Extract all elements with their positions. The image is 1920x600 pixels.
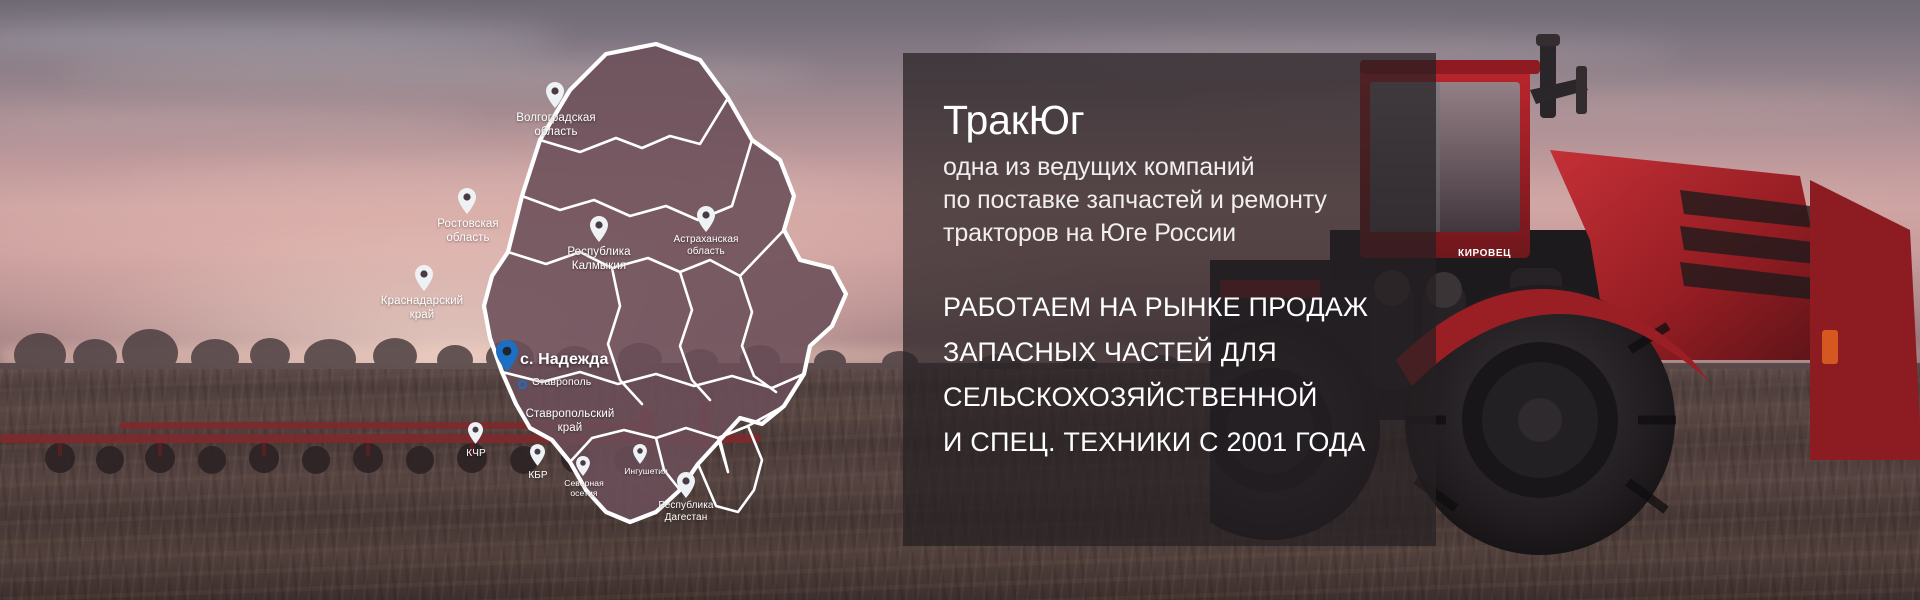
map-label-line: Волгоградская bbox=[466, 112, 646, 126]
map-label-line: Калмыкия bbox=[510, 260, 688, 274]
company-description: одна из ведущих компаний по поставке зап… bbox=[943, 151, 1396, 251]
map-label-line: Дагестан bbox=[606, 512, 766, 524]
company-name: ТракЮг bbox=[943, 100, 1396, 142]
map-label-line: Краснадарский bbox=[334, 295, 510, 309]
map-label-line: осетия bbox=[536, 488, 632, 498]
map-label-line: Республика bbox=[606, 500, 766, 512]
map-label-line: область bbox=[380, 232, 556, 246]
map-pin-icon[interactable] bbox=[590, 216, 608, 242]
map-pin-icon[interactable] bbox=[576, 456, 590, 476]
map-label-nadezhda[interactable]: с. Надежда bbox=[520, 351, 608, 370]
map-pin-icon[interactable] bbox=[633, 444, 647, 464]
map-pin-icon[interactable] bbox=[546, 82, 564, 108]
map-label-line: край bbox=[480, 422, 660, 436]
map-pin-icon[interactable] bbox=[458, 188, 476, 214]
map-label-kchr[interactable]: КЧР bbox=[436, 448, 516, 460]
map-label-line: область bbox=[626, 246, 786, 258]
map-label-line: Северная bbox=[536, 478, 632, 488]
hero-banner: КИРОВЕЦ bbox=[0, 0, 1920, 600]
description-line: по поставке запчастей и ремонту bbox=[943, 184, 1396, 217]
capital-dot-icon bbox=[518, 380, 527, 389]
description-line: тракторов на Юге России bbox=[943, 217, 1396, 250]
map-label-rostov[interactable]: Ростовская область bbox=[380, 218, 556, 245]
map-label-krasnodar[interactable]: Краснадарский край bbox=[334, 295, 510, 322]
tagline-line: И СПЕЦ. ТЕХНИКИ С 2001 ГОДА bbox=[943, 420, 1396, 465]
map-pin-highlight-icon[interactable] bbox=[496, 340, 518, 372]
map-label-line: Ставропольский bbox=[480, 408, 660, 422]
description-line: одна из ведущих компаний bbox=[943, 151, 1396, 184]
map-label-stavropol-krai[interactable]: Ставропольский край bbox=[480, 408, 660, 435]
map-pin-icon[interactable] bbox=[677, 472, 695, 498]
info-panel: ТракЮг одна из ведущих компаний по поста… bbox=[903, 53, 1436, 546]
map-label-line: край bbox=[334, 309, 510, 323]
map-label-line: Ростовская bbox=[380, 218, 556, 232]
tagline-line: РАБОТАЕМ НА РЫНКЕ ПРОДАЖ bbox=[943, 285, 1396, 330]
map-label-dagestan[interactable]: Республика Дагестан bbox=[606, 500, 766, 524]
region-map: Волгоградская область Ростовская область… bbox=[380, 20, 900, 580]
map-label-astrakhan[interactable]: Астраханская область bbox=[626, 234, 786, 258]
map-label-stavropol-city[interactable]: Ставрополь bbox=[532, 376, 591, 388]
map-label-volgograd[interactable]: Волгоградская область bbox=[466, 112, 646, 139]
map-label-line: область bbox=[466, 126, 646, 140]
map-pin-icon[interactable] bbox=[530, 444, 545, 466]
map-pin-icon[interactable] bbox=[468, 422, 483, 444]
tractor-brand-badge: КИРОВЕЦ bbox=[1458, 248, 1511, 259]
map-pin-icon[interactable] bbox=[697, 206, 715, 232]
map-label-severnaya-osetiya[interactable]: Северная осетия bbox=[536, 478, 632, 498]
map-pin-icon[interactable] bbox=[415, 265, 433, 291]
tagline-line: СЕЛЬСКОХОЗЯЙСТВЕННОЙ bbox=[943, 375, 1396, 420]
map-label-line: Астраханская bbox=[626, 234, 786, 246]
company-tagline: РАБОТАЕМ НА РЫНКЕ ПРОДАЖ ЗАПАСНЫХ ЧАСТЕЙ… bbox=[943, 285, 1396, 465]
tagline-line: ЗАПАСНЫХ ЧАСТЕЙ ДЛЯ bbox=[943, 330, 1396, 375]
